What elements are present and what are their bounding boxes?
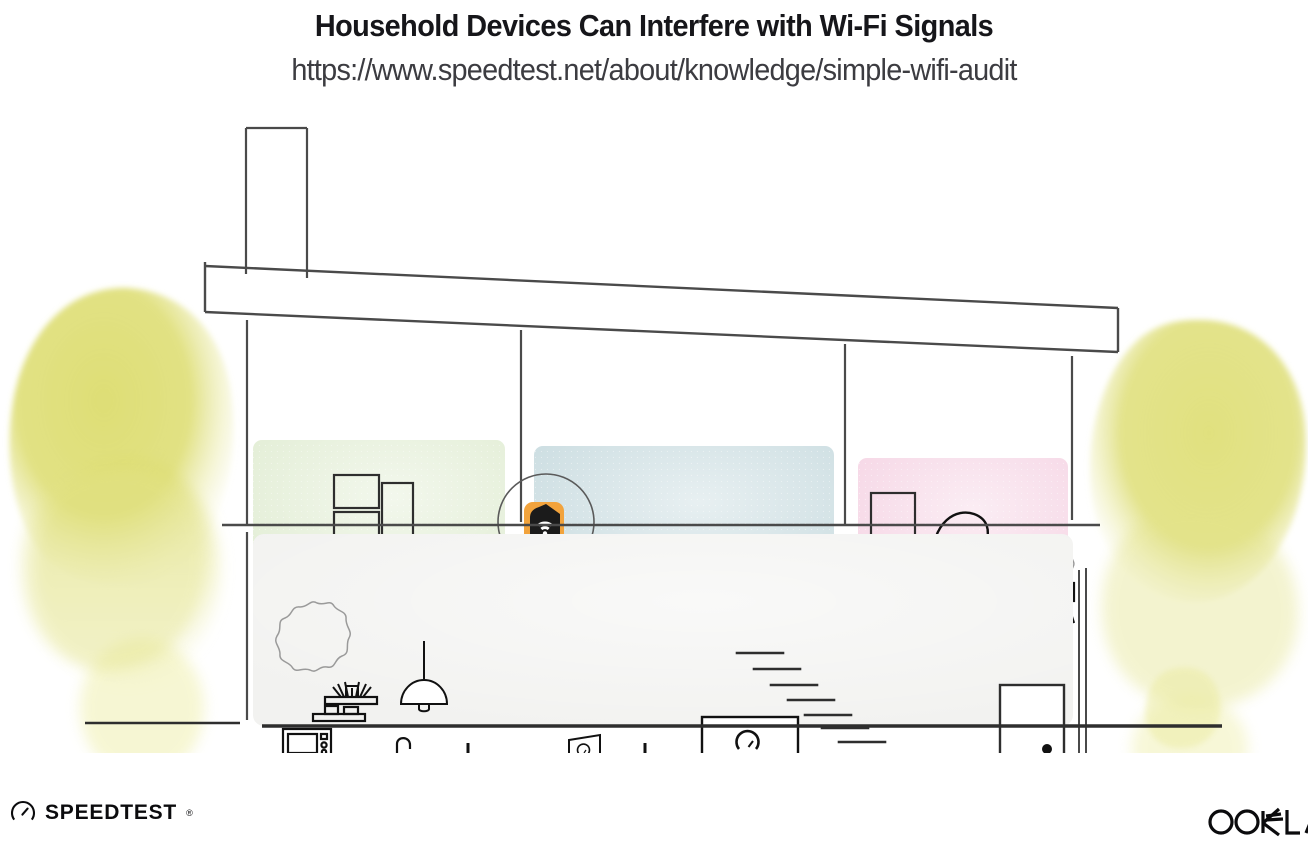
- header: Household Devices Can Interfere with Wi-…: [0, 0, 1308, 88]
- footer: SPEEDTEST ®: [0, 780, 1308, 861]
- speedometer-icon: [10, 800, 36, 826]
- chair-left: [468, 743, 500, 753]
- house-illustration: SPEEDTEST: [0, 108, 1308, 753]
- kitchen-sink-faucet: [397, 738, 410, 753]
- microwave[interactable]: [283, 729, 331, 753]
- speedtest-trademark: ®: [186, 808, 193, 818]
- roof: [205, 262, 1118, 352]
- foliage-left: [9, 288, 233, 753]
- source-url: https://www.speedtest.net/about/knowledg…: [46, 44, 1262, 88]
- speedtest-wordmark: SPEEDTEST: [45, 801, 177, 825]
- chimney: [246, 128, 307, 278]
- foliage-right: [1090, 320, 1306, 753]
- page-title: Household Devices Can Interfere with Wi-…: [46, 0, 1262, 44]
- ookla-logo: [1203, 802, 1308, 842]
- ookla-k-glyph: [1263, 809, 1283, 835]
- television-speedtest[interactable]: SPEEDTEST: [702, 717, 798, 753]
- chair-right: [613, 743, 645, 753]
- laptop-speedtest[interactable]: SPEEDTEST: [563, 735, 606, 753]
- infographic-page: Household Devices Can Interfere with Wi-…: [0, 0, 1308, 861]
- front-door[interactable]: [1000, 685, 1064, 753]
- speedtest-logo: SPEEDTEST ®: [10, 800, 193, 826]
